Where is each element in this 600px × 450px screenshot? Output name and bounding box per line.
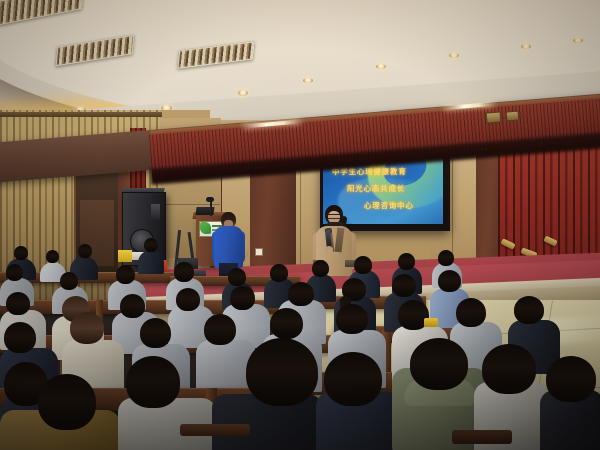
audience-head-foreground — [38, 374, 96, 430]
audience-head — [176, 288, 200, 311]
audience-head — [270, 264, 288, 282]
wall-outlet-icon — [255, 248, 263, 256]
slide-text-line-2: 阳光心态共成长 — [347, 183, 405, 194]
beam-ornament — [506, 110, 520, 121]
assistant-torso — [214, 226, 243, 268]
auditorium-photo: 中学生心理健康教育 阳光心态共成长 心理咨询中心 — [0, 0, 600, 450]
audience-head — [116, 265, 135, 284]
warning-sign — [118, 250, 132, 262]
audience-badge — [424, 318, 438, 327]
audience-head — [228, 268, 246, 286]
downlight-icon — [521, 44, 531, 49]
downlight-icon — [238, 90, 248, 96]
audience-head — [398, 253, 415, 270]
audience-head — [46, 250, 59, 263]
audience-head — [204, 314, 236, 345]
audience-head — [230, 286, 255, 310]
audience-head — [438, 270, 461, 292]
audience-head — [120, 294, 145, 318]
presenter-hand — [325, 246, 333, 254]
beam-ornament — [486, 111, 502, 123]
audience-head — [312, 260, 329, 277]
audience-head — [438, 250, 454, 266]
audience-head — [336, 304, 368, 334]
audience-head — [514, 296, 544, 324]
podium-mic-stand — [210, 200, 212, 216]
bench-armrest — [452, 430, 512, 444]
audience-head — [78, 244, 92, 258]
audience-head — [144, 238, 158, 252]
audience-head — [140, 318, 171, 348]
wall-panel-seam — [452, 142, 453, 270]
audience-head — [546, 356, 596, 402]
downlight-icon — [573, 38, 583, 43]
speaker-tweeter-icon — [151, 204, 160, 220]
curtain-rod — [0, 112, 162, 117]
audience-head — [482, 344, 536, 394]
audience-head — [6, 264, 23, 281]
podium-mic-head — [206, 197, 214, 202]
audience-head — [6, 292, 30, 315]
audience-head — [354, 256, 372, 274]
audience-head — [270, 308, 303, 339]
bench-armrest — [180, 424, 250, 436]
audience-head — [14, 246, 28, 260]
slide-text-line-3: 心理咨询中心 — [364, 200, 414, 211]
audience-head — [392, 274, 416, 297]
audience-head-foreground — [246, 338, 318, 406]
podium-logo-icon — [200, 222, 211, 234]
audience-head — [456, 298, 486, 327]
downlight-icon — [303, 78, 313, 83]
audience-head — [324, 352, 382, 406]
audience-head-curly — [70, 312, 104, 344]
audience-head-foreground — [410, 338, 468, 390]
audience-head — [4, 322, 36, 353]
downlight-icon — [449, 53, 459, 58]
glasses-icon — [328, 214, 340, 219]
audience-head — [288, 282, 314, 306]
audience-head — [174, 262, 194, 282]
audience-torso — [138, 250, 164, 274]
downlight-icon — [376, 64, 386, 69]
audience-head — [60, 272, 78, 290]
audience-head — [126, 356, 180, 408]
